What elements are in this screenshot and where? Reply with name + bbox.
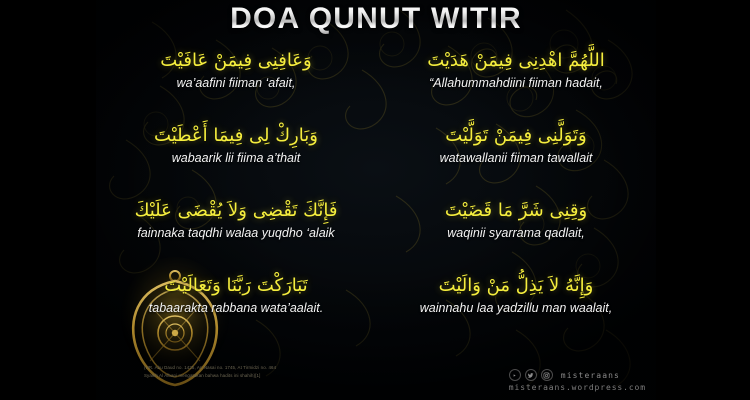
- citation-line-2: Syaikh Al Albani mengatakan bahwa hadits…: [144, 372, 394, 380]
- arabic-text: وَإِنَّهُ لاَ يَذِلُّ مَنْ وَالَيْتَ: [384, 273, 648, 299]
- verse-hemistich-right: وَإِنَّهُ لاَ يَذِلُّ مَنْ وَالَيْتَ wai…: [376, 273, 656, 315]
- transliteration-text: tabaarakta rabbana wata’aalait.: [104, 301, 368, 315]
- hadith-citation: (HR. Abu Daud no. 1425, An Nasai no. 174…: [144, 364, 394, 380]
- watermark: misteraans misteraans.wordpress.com: [509, 369, 646, 392]
- transliteration-text: waqinii syarrama qadlait,: [384, 226, 648, 240]
- watermark-handle: misteraans: [557, 371, 620, 380]
- letterbox-bar-right: [656, 0, 750, 400]
- arabic-text: اللَّهُمَّ اهْدِنِى فِيمَنْ هَدَيْتَ: [384, 48, 648, 74]
- watermark-url: misteraans.wordpress.com: [509, 383, 646, 392]
- verse-hemistich-right: وَقِنِى شَرَّ مَا قَضَيْتَ waqinii syarr…: [376, 198, 656, 240]
- watermark-social-row: misteraans: [509, 369, 620, 381]
- verse-hemistich-left: وَعَافِنِى فِيمَنْ عَافَيْتَ wa’aafini f…: [96, 48, 376, 90]
- arabic-text: وَتَوَلَّنِى فِيمَنْ تَوَلَّيْتَ: [384, 123, 648, 149]
- arabic-text: وَعَافِنِى فِيمَنْ عَافَيْتَ: [104, 48, 368, 74]
- twitter-icon[interactable]: [525, 369, 537, 381]
- verse-row: تَبَارَكْتَ رَبَّنَا وَتَعَالَيْتَ tabaa…: [96, 273, 656, 348]
- citation-line-1: (HR. Abu Daud no. 1425, An Nasai no. 174…: [144, 364, 394, 372]
- page-title: DOA QUNUT WITIR: [96, 2, 656, 36]
- slide-content-area: DOA QUNUT WITIR وَعَافِنِى فِيمَنْ عَافَ…: [96, 0, 656, 400]
- verse-row: وَعَافِنِى فِيمَنْ عَافَيْتَ wa’aafini f…: [96, 48, 656, 123]
- arabic-text: فَإِنَّكَ تَقْضِى وَلاَ يُقْضَى عَلَيْكَ: [104, 198, 368, 224]
- verse-hemistich-left: تَبَارَكْتَ رَبَّنَا وَتَعَالَيْتَ tabaa…: [96, 273, 376, 315]
- instagram-icon[interactable]: [541, 369, 553, 381]
- arabic-text: وَبَارِكْ لِى فِيمَا أَعْطَيْتَ: [104, 123, 368, 149]
- transliteration-text: watawallanii fiiman tawallait: [384, 151, 648, 165]
- verse-row: فَإِنَّكَ تَقْضِى وَلاَ يُقْضَى عَلَيْكَ…: [96, 198, 656, 273]
- transliteration-text: “Allahummahdiini fiiman hadait,: [384, 76, 648, 90]
- verse-hemistich-left: فَإِنَّكَ تَقْضِى وَلاَ يُقْضَى عَلَيْكَ…: [96, 198, 376, 240]
- transliteration-text: wa’aafini fiiman ‘afait,: [104, 76, 368, 90]
- transliteration-text: wabaarik lii fiima a’thait: [104, 151, 368, 165]
- verse-hemistich-left: وَبَارِكْ لِى فِيمَا أَعْطَيْتَ wabaarik…: [96, 123, 376, 165]
- verse-hemistich-right: وَتَوَلَّنِى فِيمَنْ تَوَلَّيْتَ watawal…: [376, 123, 656, 165]
- letterbox-bar-left: [0, 0, 96, 400]
- verse-row: وَبَارِكْ لِى فِيمَا أَعْطَيْتَ wabaarik…: [96, 123, 656, 198]
- verse-hemistich-right: اللَّهُمَّ اهْدِنِى فِيمَنْ هَدَيْتَ “Al…: [376, 48, 656, 90]
- verse-list: وَعَافِنِى فِيمَنْ عَافَيْتَ wa’aafini f…: [96, 48, 656, 348]
- arabic-text: تَبَارَكْتَ رَبَّنَا وَتَعَالَيْتَ: [104, 273, 368, 299]
- youtube-icon[interactable]: [509, 369, 521, 381]
- poster-canvas: DOA QUNUT WITIR وَعَافِنِى فِيمَنْ عَافَ…: [0, 0, 750, 400]
- transliteration-text: wainnahu laa yadzillu man waalait,: [384, 301, 648, 315]
- transliteration-text: fainnaka taqdhi walaa yuqdho ‘alaik: [104, 226, 368, 240]
- arabic-text: وَقِنِى شَرَّ مَا قَضَيْتَ: [384, 198, 648, 224]
